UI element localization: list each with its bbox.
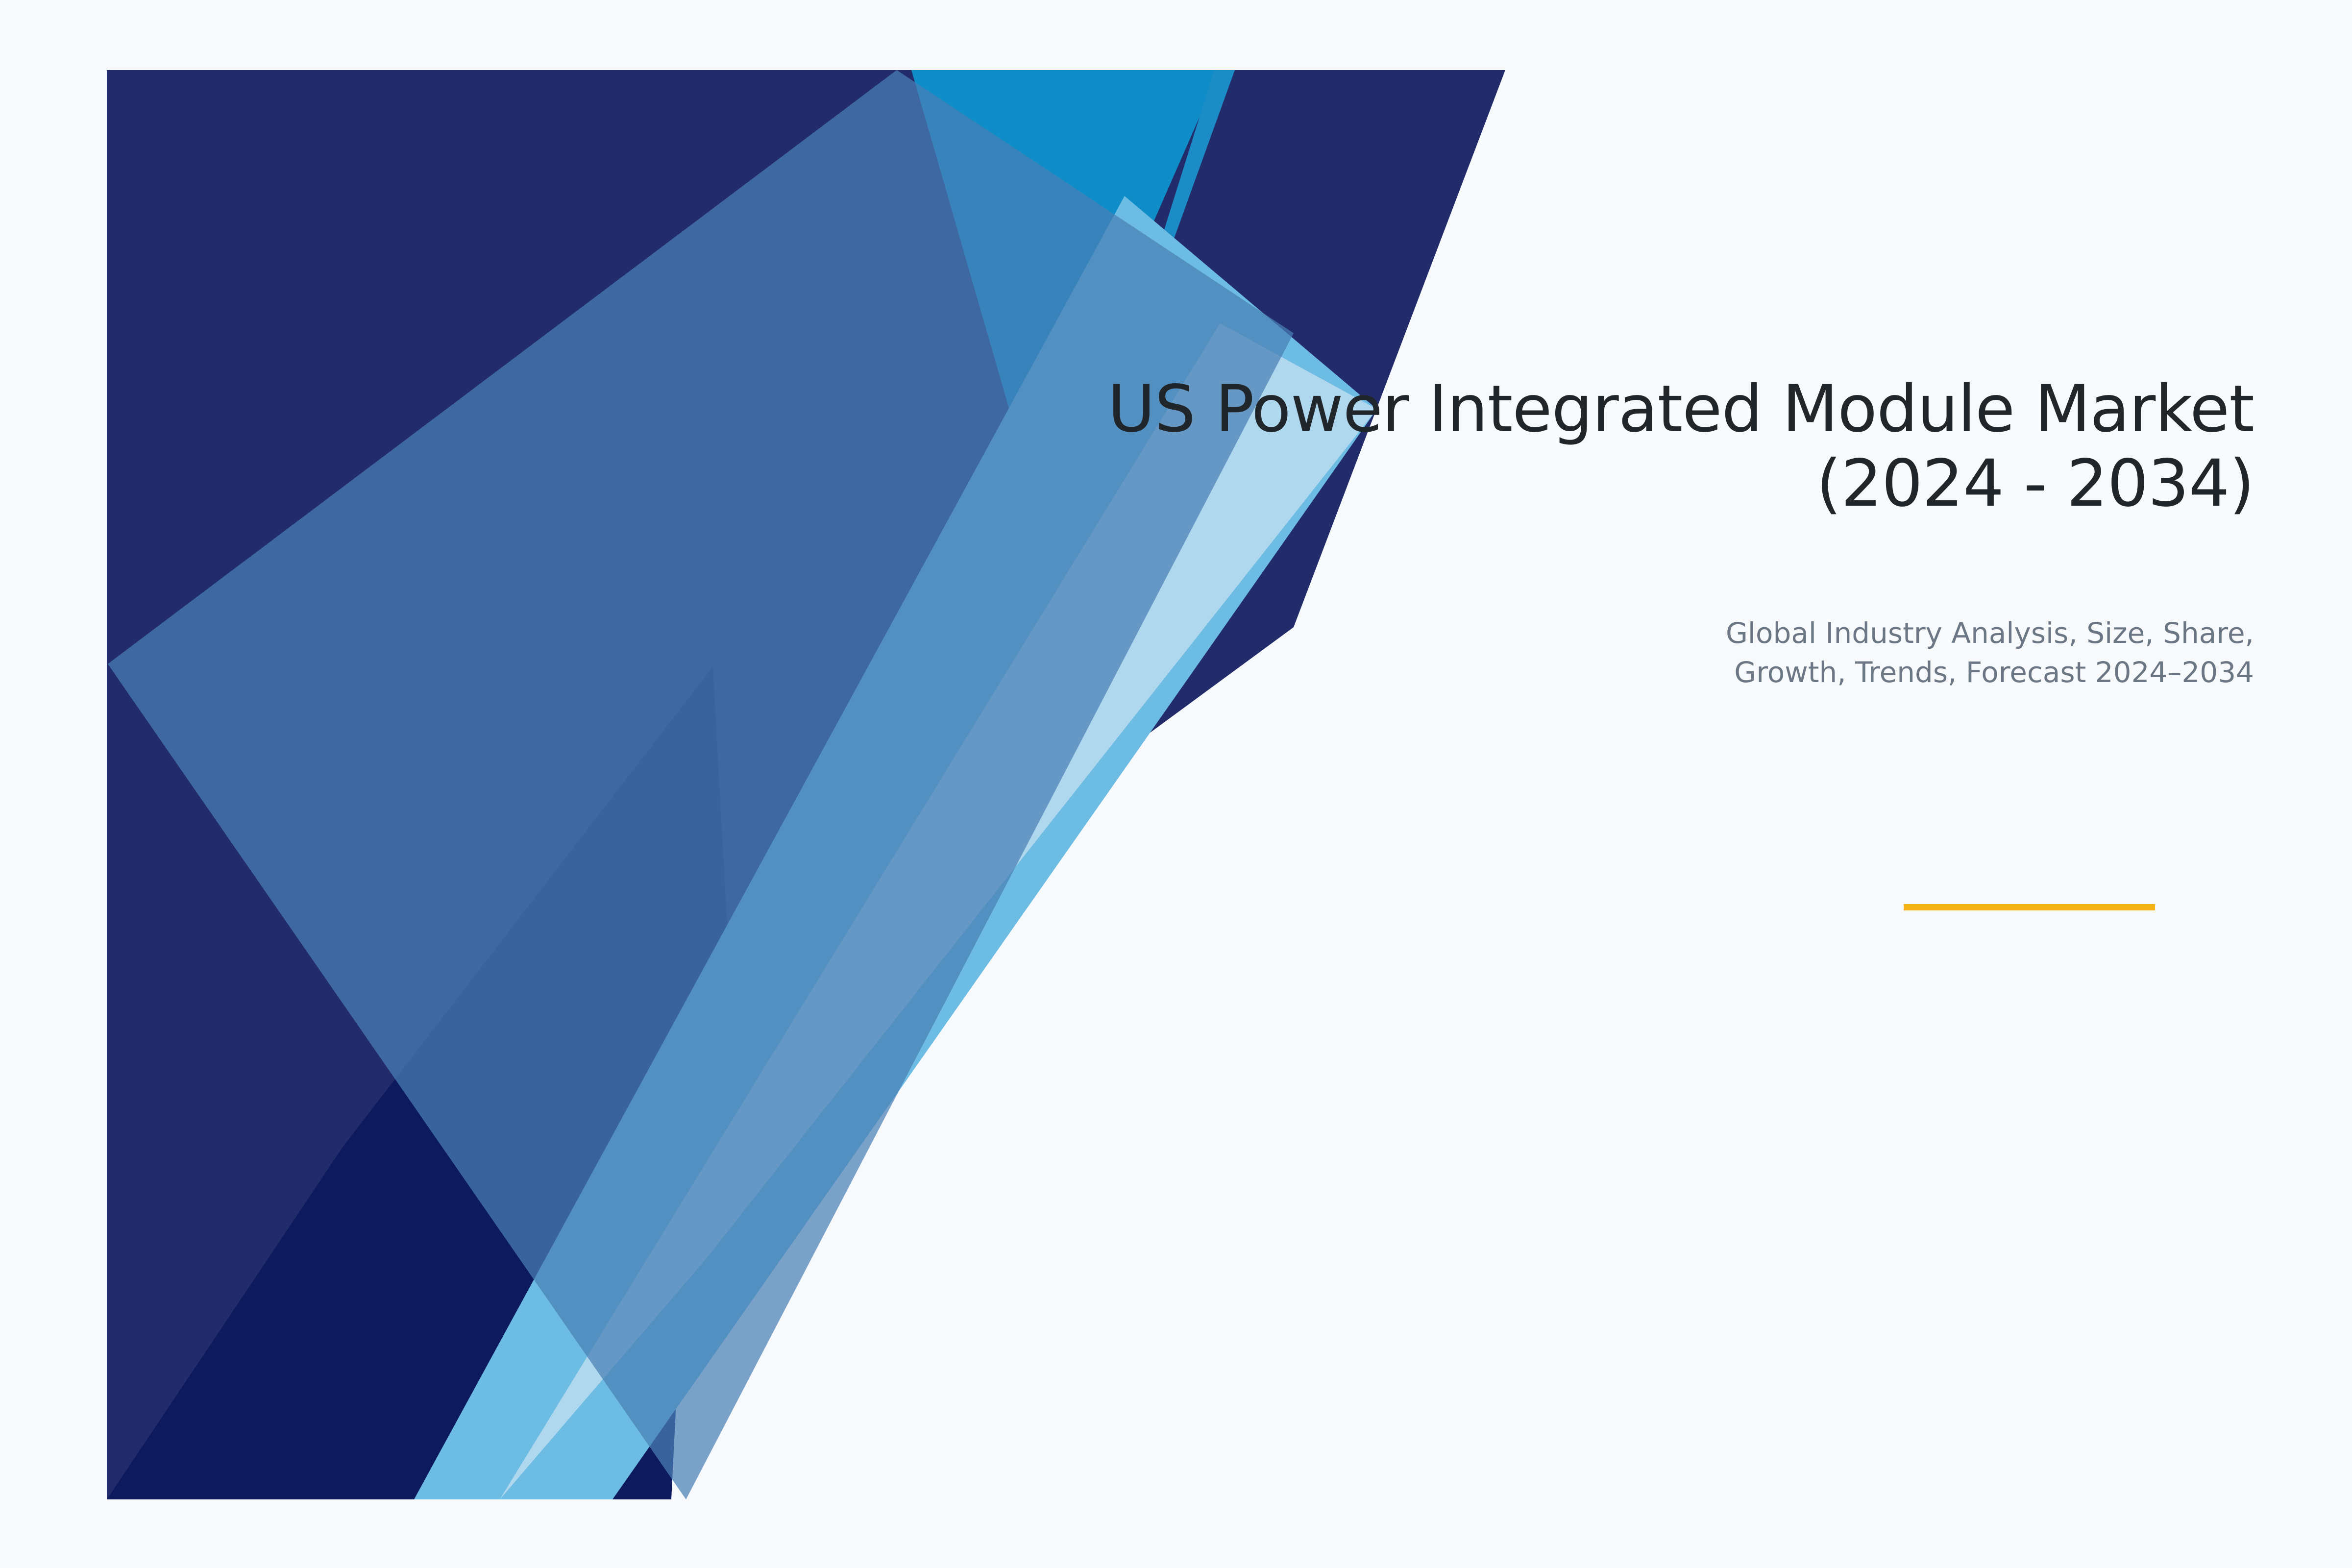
page-subtitle: Global Industry Analysis, Size, Share, G… [833, 521, 2254, 692]
shape-cyan-field [107, 70, 911, 490]
abstract-polygon-artwork [0, 0, 2352, 1568]
shape-navy-band [107, 70, 1505, 1499]
shape-slate-overlay [108, 70, 1294, 1499]
shape-dark-navy-bottom [107, 666, 713, 1499]
cover-text-block: US Power Integrated Module Market (2024 … [833, 372, 2254, 692]
accent-underline [1904, 904, 2155, 910]
shape-dark-navy-tail [294, 666, 735, 1499]
page-title: US Power Integrated Module Market (2024 … [833, 372, 2254, 521]
report-cover-page: US Power Integrated Module Market (2024 … [0, 0, 2352, 1568]
